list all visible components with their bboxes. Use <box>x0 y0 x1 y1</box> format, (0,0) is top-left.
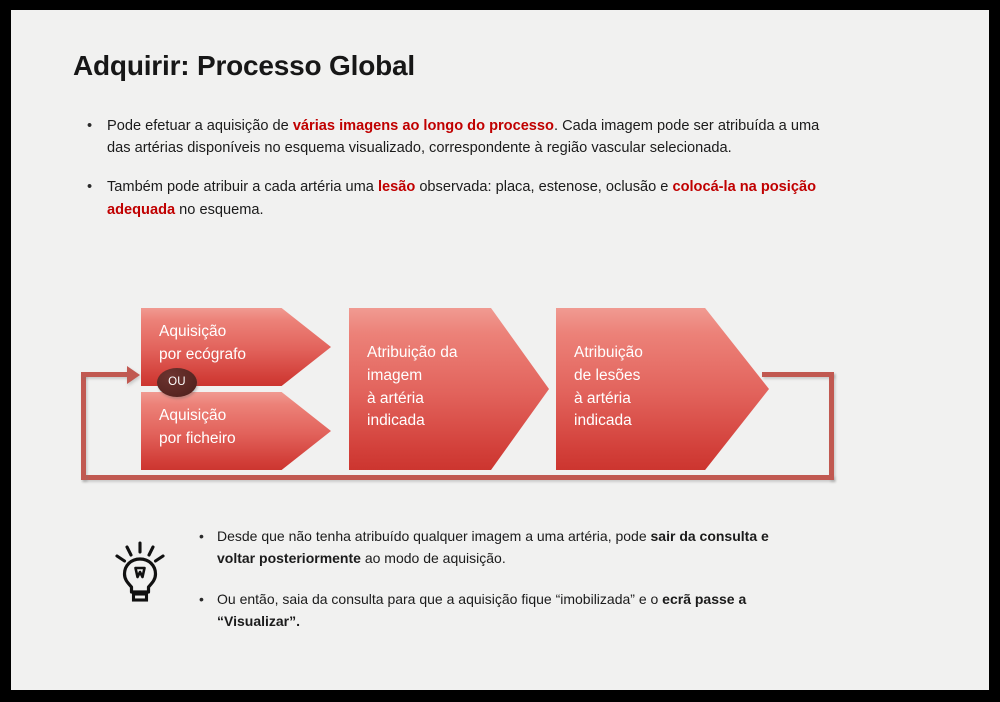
or-badge: OU <box>157 368 197 397</box>
tip-item: • Ou então, saia da consulta para que a … <box>187 589 807 632</box>
loop-bottom-segment <box>81 475 834 480</box>
loop-left-vertical-segment <box>81 372 86 480</box>
text-run: lesão <box>378 179 415 195</box>
flow-step-acquisition-file[interactable]: Aquisição por ficheiro <box>141 392 331 470</box>
process-flow-diagram: Aquisição por ecógrafo Aquisição por fic… <box>11 286 989 516</box>
tip-item: • Desde que não tenha atribuído qualquer… <box>187 526 807 569</box>
page-title: Adquirir: Processo Global <box>73 50 415 82</box>
bullet-marker: • <box>199 589 204 611</box>
text-run: ao modo de aquisição. <box>361 550 506 566</box>
flow-step-label: Atribuição de lesões à artéria indicada <box>574 342 643 433</box>
text-run: várias imagens ao longo do processo <box>293 118 554 134</box>
flow-step-image-assignment[interactable]: Atribuição da imagem à artéria indicada <box>349 308 549 470</box>
text-run: Pode efetuar a aquisição de <box>107 118 293 134</box>
bullet-item: • Também pode atribuir a cada artéria um… <box>73 176 833 220</box>
text-run: observada: placa, estenose, oclusão e <box>415 179 672 195</box>
flow-step-lesion-assignment[interactable]: Atribuição de lesões à artéria indicada <box>556 308 769 470</box>
tip-text: Ou então, saia da consulta para que a aq… <box>217 591 746 629</box>
slide-canvas: Adquirir: Processo Global • Pode efetuar… <box>11 10 989 690</box>
bullet-item: • Pode efetuar a aquisição de várias ima… <box>73 115 833 159</box>
flow-step-label: Atribuição da imagem à artéria indicada <box>367 342 457 433</box>
text-run: no esquema. <box>175 202 263 218</box>
text-run: Desde que não tenha atribuído qualquer i… <box>217 528 651 544</box>
bullet-text: Também pode atribuir a cada artéria uma … <box>107 179 816 217</box>
bullet-marker: • <box>87 176 92 198</box>
loop-right-vertical-segment <box>829 372 834 480</box>
flow-step-label: Aquisição por ficheiro <box>159 405 236 451</box>
tip-section: • Desde que não tenha atribuído qualquer… <box>11 516 989 656</box>
tip-text: Desde que não tenha atribuído qualquer i… <box>217 528 769 566</box>
lightbulb-icon <box>107 538 173 604</box>
loop-arrowhead-icon <box>127 366 140 384</box>
loop-top-left-segment <box>81 372 129 377</box>
tip-bullet-list: • Desde que não tenha atribuído qualquer… <box>187 526 807 653</box>
flow-step-label: Aquisição por ecógrafo <box>159 321 246 367</box>
bullet-marker: • <box>199 526 204 548</box>
loop-top-right-segment <box>762 372 834 377</box>
text-run: Ou então, saia da consulta para que a aq… <box>217 591 662 607</box>
text-run: Também pode atribuir a cada artéria uma <box>107 179 378 195</box>
intro-bullet-list: • Pode efetuar a aquisição de várias ima… <box>73 115 833 238</box>
bullet-marker: • <box>87 115 92 137</box>
slide-frame: Adquirir: Processo Global • Pode efetuar… <box>0 0 1000 702</box>
bullet-text: Pode efetuar a aquisição de várias image… <box>107 118 819 156</box>
